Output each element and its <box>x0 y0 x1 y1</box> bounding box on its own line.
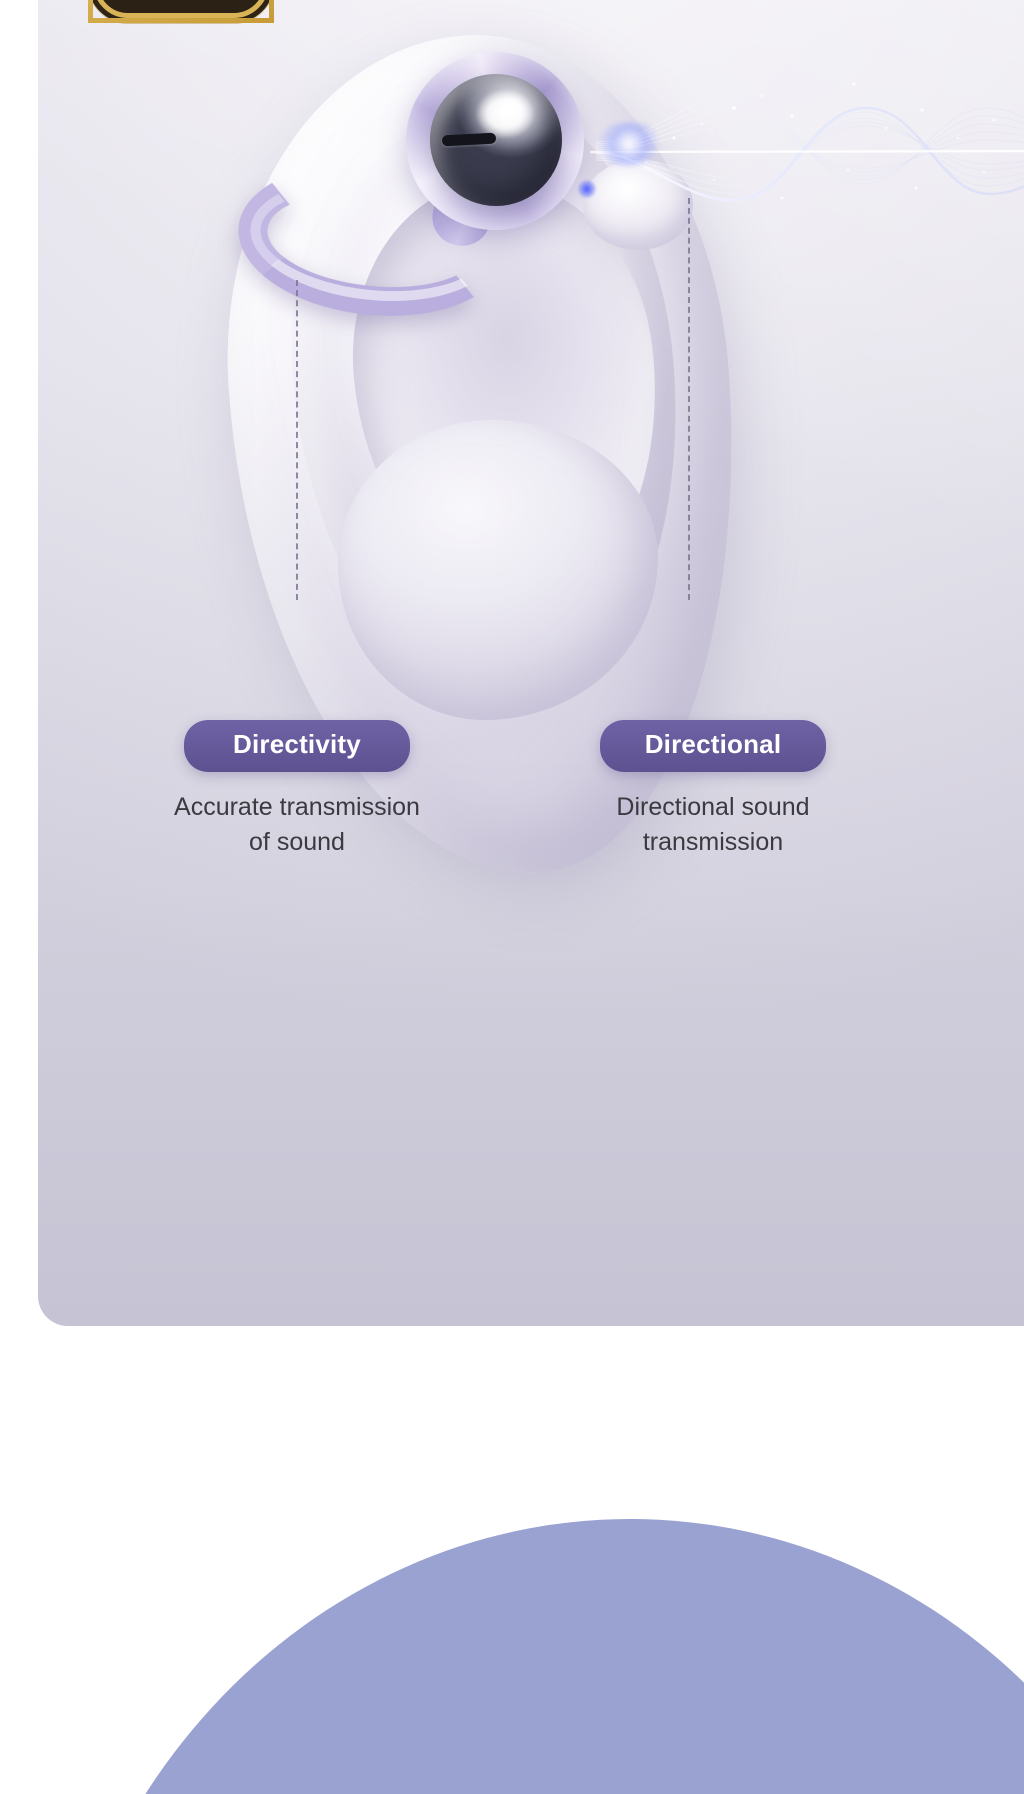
caption-line-2: of sound <box>92 825 502 861</box>
caption-line-1: Accurate transmission <box>92 790 502 826</box>
bottom-periwinkle-ellipse <box>40 1519 1024 1794</box>
callout-caption-directivity: Accurate transmission of sound <box>92 790 502 861</box>
dashed-leader-line-left <box>296 280 298 600</box>
caption-line-2: transmission <box>508 825 918 861</box>
callout-pill-directional[interactable]: Directional <box>600 720 826 772</box>
sound-wave-origin-glow <box>594 122 664 166</box>
dashed-leader-line-right <box>688 198 690 600</box>
callout-directivity: Directivity Accurate transmission of sou… <box>92 720 502 861</box>
feature-card: Directivity Accurate transmission of sou… <box>38 0 1024 1326</box>
callout-caption-directional: Directional sound transmission <box>508 790 918 861</box>
caption-line-1: Directional sound <box>508 790 918 826</box>
callout-directional: Directional Directional sound transmissi… <box>508 720 918 861</box>
earbud-blue-led-glint <box>578 180 596 198</box>
callout-pill-directivity[interactable]: Directivity <box>184 720 410 772</box>
ear-tragus <box>583 160 693 250</box>
gold-badge-inner-fill <box>93 0 269 18</box>
product-feature-page: Directivity Accurate transmission of sou… <box>0 0 1024 1794</box>
gold-outline-badge <box>88 0 274 23</box>
